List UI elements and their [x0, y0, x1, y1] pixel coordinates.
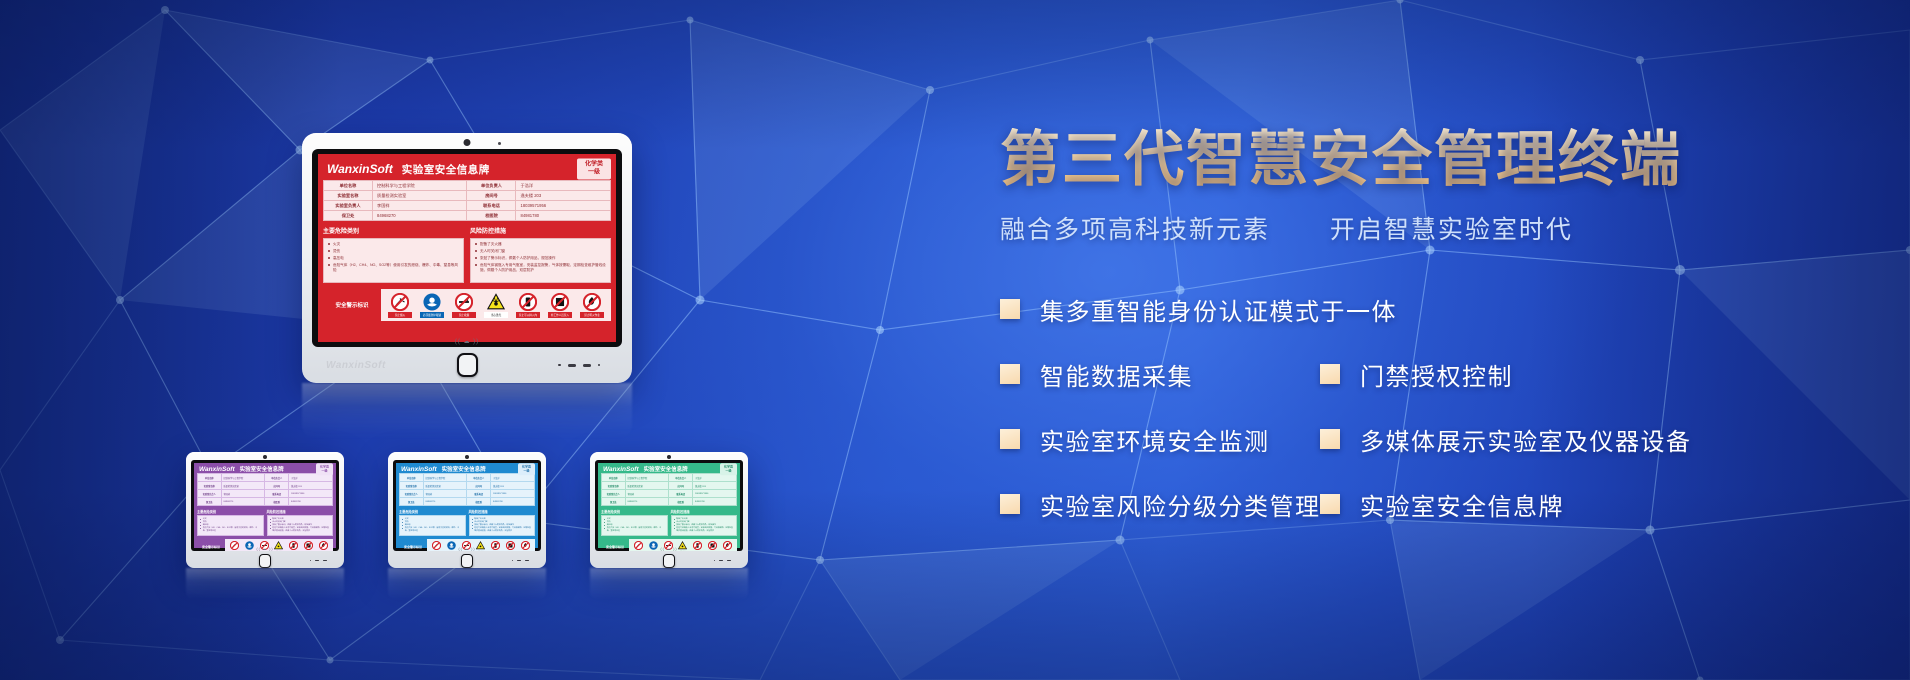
tablet-shell: WanxinSoft 实验室安全信息牌 化学类 一级 单位名称控制科学与工程学院…	[186, 452, 344, 568]
feature-label: 门禁授权控制	[1360, 357, 1513, 392]
list-item: 高压电	[328, 256, 459, 261]
badge-line-2: 一级	[588, 169, 600, 175]
sensor-icon	[498, 142, 501, 145]
info-board-screen: WanxinSoft 实验室安全信息牌 化学类 一级 单位名称控制科学与工程学院…	[194, 463, 336, 548]
cell-value: 84968270	[373, 211, 467, 221]
tablet-reflection	[590, 568, 748, 600]
no-fireworks-icon	[391, 293, 409, 311]
info-board-screen: WanxinSoft 实验室安全信息牌 化学类 一级 单位名称控制科学与工程学院…	[598, 463, 740, 548]
nfc-reader-icon: (( ☁ ))	[455, 338, 479, 345]
led-indicator	[323, 560, 327, 562]
bullet-icon	[604, 522, 605, 523]
cell-value: 控制科学与工程学院	[221, 474, 265, 482]
safety-sign: 禁止带火种入内	[693, 541, 703, 551]
sign-caption: 禁止明火作业	[580, 312, 604, 318]
bullet-icon	[472, 522, 473, 523]
bullet-icon	[475, 243, 477, 245]
cell-value: 84981780	[516, 211, 611, 221]
bullet-icon	[270, 528, 271, 529]
square-bullet-icon	[1320, 429, 1340, 449]
table-row: 单位名称控制科学与工程学院单位负责人于浩洋	[602, 474, 737, 482]
risk-columns: 主要危险类别 火灾 烫伤 高压电 危险气体（H2、CH4、NO、SO2等）使用引…	[197, 509, 333, 536]
tablet-reflection	[388, 568, 546, 600]
feature-item: 实验室环境安全监测	[1000, 422, 1320, 457]
bullet-icon	[270, 519, 271, 520]
cell-value: 逸夫楼 203	[516, 191, 611, 201]
list-item-label: 危险气体钢瓶入专用气瓶室，安装监控报警，气体按需取、定期检查维护管线设施，佩戴个…	[474, 527, 532, 533]
measure-column: 风险防控措施 配备了灭火器 无人时关闭门窗 张贴了警示标识，佩戴个人防护用品，规…	[671, 509, 738, 536]
safety-sign: 禁止带火种入内	[491, 541, 501, 551]
led-indicator	[512, 560, 514, 562]
bullet-icon	[674, 519, 675, 520]
risk-columns: 主要危险类别 火灾 烫伤 高压电 危险气体（H2、CH4、NO、SO2等）使用引…	[399, 509, 535, 536]
lab-info-table-body: 单位名称控制科学与工程学院单位负责人于浩洋 实验室名称质量检测实验室房间号逸夫楼…	[602, 474, 737, 506]
safety-signs-container: 禁止烟火 必须戴防护眼镜	[381, 289, 611, 321]
safety-sign: 禁止吸烟	[452, 293, 476, 318]
cell-value: 质量检测实验室	[221, 482, 265, 490]
safety-signs-label: 安全警示标识	[601, 545, 629, 549]
bullet-icon	[328, 243, 330, 245]
feature-row: 实验室环境安全监测 多媒体展示实验室及仪器设备	[1000, 422, 1880, 457]
cell-key: 单位负责人	[669, 474, 693, 482]
cell-key: 实验室名称	[400, 482, 424, 490]
cell-value: 李国祥	[221, 490, 265, 498]
led-indicator	[525, 560, 529, 562]
safety-signs-container: 禁止烟火 必须戴防护眼镜 禁止吸烟 当心激光 禁止带火种入内 非工作人员禁入 禁…	[427, 539, 535, 551]
main-tablet-device: WanxinSoft 实验室安全信息牌 化学类 一级 单位名称	[302, 133, 632, 383]
home-button[interactable]	[259, 554, 271, 568]
sign-caption: 非工作人员禁入	[548, 312, 572, 318]
badge-line-1: 化学类	[585, 162, 603, 168]
laser-warning-icon	[274, 541, 283, 550]
cell-key: 单位负责人	[467, 181, 516, 191]
home-button[interactable]	[461, 554, 473, 568]
safety-sign: 必须戴防护眼镜	[420, 293, 444, 318]
cell-key: 联系电话	[265, 490, 289, 498]
feature-item: 门禁授权控制	[1320, 357, 1513, 392]
feature-item: 集多重智能身份认证模式于一体	[1000, 292, 1397, 327]
chin-brand-logo: WanxinSoft	[326, 360, 386, 371]
no-open-flame-icon	[723, 541, 732, 550]
subtitle-right: 开启智慧实验室时代	[1330, 216, 1573, 244]
feature-label: 实验室安全信息牌	[1360, 487, 1564, 522]
camera-icon	[667, 455, 671, 459]
list-item-label: 配备了灭火器	[480, 242, 502, 247]
status-leds	[558, 364, 600, 367]
bullet-icon	[328, 250, 330, 252]
brand-logo: WanxinSoft	[603, 466, 639, 473]
board-header: WanxinSoft 实验室安全信息牌 化学类 一级	[601, 465, 737, 473]
board-body: 单位名称 控制科学与工程学院 单位负责人 于浩洋 实验室名称 质量检测实验室 房…	[323, 180, 611, 339]
feature-item: 多媒体展示实验室及仪器设备	[1320, 422, 1692, 457]
cell-value: 逸夫楼 203	[288, 482, 332, 490]
bullet-icon	[200, 522, 201, 523]
tablet-inner-bezel: WanxinSoft 实验室安全信息牌 化学类 一级 单位名称控制科学与工程学院…	[393, 460, 541, 551]
hazard-list-box: 火灾 烫伤 高压电 危险气体（H2、CH4、NO、SO2等）使用引发的燃烧、爆炸…	[601, 515, 668, 536]
brand-logo: WanxinSoft	[327, 162, 393, 176]
safety-sign: 禁止带火种入内	[289, 541, 299, 551]
cell-key: 房间号	[265, 482, 289, 490]
bullet-icon	[402, 522, 403, 523]
measure-list-box: 配备了灭火器 无人时关闭门窗 张贴了警示标识，佩戴个人防护用品，规范操作 危险气…	[469, 515, 536, 536]
board-header: WanxinSoft 实验室安全信息牌 化学类 一级	[399, 465, 535, 473]
list-item: 火灾	[328, 242, 459, 247]
tablet-reflection	[302, 383, 632, 439]
bullet-icon	[674, 522, 675, 523]
measure-list-box: 配备了灭火器 无人时关闭门窗 张贴了警示标识，佩戴个人防护用品，规范操作 危险气…	[267, 515, 334, 536]
cell-key: 实验室名称	[198, 482, 222, 490]
bullet-icon	[475, 264, 477, 266]
table-row: 实验室名称 质量检测实验室 房间号 逸夫楼 203	[324, 191, 611, 201]
led-indicator	[727, 560, 731, 562]
cell-key: 联系电话	[467, 201, 516, 211]
square-bullet-icon	[1000, 364, 1020, 384]
no-open-flame-icon	[583, 293, 601, 311]
home-button[interactable]	[663, 554, 675, 568]
brand-logo: WanxinSoft	[199, 466, 235, 473]
list-item: 张贴了警示标识，佩戴个人防护用品，规范操作	[475, 256, 606, 261]
bullet-icon	[674, 525, 675, 526]
cell-value: 18039571956	[288, 490, 332, 498]
bullet-icon	[402, 528, 403, 529]
lab-info-table: 单位名称 控制科学与工程学院 单位负责人 于浩洋 实验室名称 质量检测实验室 房…	[323, 180, 611, 221]
list-item-label: 危险气体钢瓶入专用气瓶室，安装监控报警，气体按需取、定期检查维护管线设施，佩戴个…	[480, 263, 606, 274]
square-bullet-icon	[1000, 299, 1020, 319]
risk-columns: 主要危险类别 火灾 烫伤 高压电 危险气体（H2、CH4、NO、SO2等）使用引…	[601, 509, 737, 536]
cell-value: 18039571956	[490, 490, 534, 498]
bullet-icon	[200, 528, 201, 529]
tablet-inner-bezel: WanxinSoft 实验室安全信息牌 化学类 一级 单位名称	[312, 149, 622, 347]
table-row: 保卫处84968270校医院84981780	[198, 498, 333, 506]
list-item-label: 危险气体（H2、CH4、NO、SO2等）使用引发的燃烧、爆炸、中毒、窒息等风险	[607, 527, 665, 533]
hazard-column-title: 主要危险类别	[197, 509, 264, 514]
table-row: 保卫处84968270校医院84981780	[602, 498, 737, 506]
lab-info-table-body: 单位名称控制科学与工程学院单位负责人于浩洋 实验室名称质量检测实验室房间号逸夫楼…	[400, 474, 535, 506]
no-fireworks-icon	[634, 541, 643, 550]
list-item: 配备了灭火器	[475, 242, 606, 247]
no-smoking-icon	[455, 293, 473, 311]
no-open-flame-icon	[521, 541, 530, 550]
laser-warning-icon	[487, 293, 505, 311]
cell-key: 校医院	[467, 211, 516, 221]
safety-sign: 禁止烟火	[633, 541, 643, 551]
no-mobile-phone-icon	[693, 541, 702, 550]
list-item: 危险气体（H2、CH4、NO、SO2等）使用引发的燃烧、爆炸、中毒、窒息等风险	[604, 527, 665, 533]
sign-caption: 禁止带火种入内	[516, 312, 540, 318]
led-indicator	[558, 364, 561, 367]
table-row: 实验室负责人 李国祥 联系电话 18039571956	[324, 201, 611, 211]
cell-key: 保卫处	[400, 498, 424, 506]
cell-key: 房间号	[669, 482, 693, 490]
home-button[interactable]	[457, 353, 478, 377]
square-bullet-icon	[1000, 494, 1020, 514]
hazard-list-box: 火灾 烫伤 高压电	[323, 238, 464, 283]
list-item-label: 张贴了警示标识，佩戴个人防护用品，规范操作	[480, 256, 555, 261]
feature-item: 实验室风险分级分类管理	[1000, 487, 1320, 522]
board-title: 实验室安全信息牌	[442, 465, 486, 473]
bullet-icon	[475, 250, 477, 252]
hazard-column: 主要危险类别 火灾 烫伤 高压电 危险气体（H2、CH4、NO、SO2等）使用引…	[399, 509, 466, 536]
cell-value: 质量检测实验室	[625, 482, 669, 490]
safety-sign: 禁止烟火	[229, 541, 239, 551]
measure-column-title: 风险防控措施	[671, 509, 738, 514]
no-entry-icon	[506, 541, 515, 550]
safety-sign: 禁止烟火	[431, 541, 441, 551]
cell-key: 保卫处	[324, 211, 373, 221]
list-item: 危险气体钢瓶入专用气瓶室，安装监控报警，气体按需取、定期检查维护管线设施，佩戴个…	[270, 527, 331, 533]
badge-line-2: 一级	[523, 468, 529, 472]
feature-label: 多媒体展示实验室及仪器设备	[1360, 422, 1692, 457]
safety-signs-container: 禁止烟火 必须戴防护眼镜 禁止吸烟 当心激光 禁止带火种入内 非工作人员禁入 禁…	[225, 539, 333, 551]
board-title: 实验室安全信息牌	[240, 465, 284, 473]
lab-info-table-body: 单位名称控制科学与工程学院单位负责人于浩洋 实验室名称质量检测实验室房间号逸夫楼…	[198, 474, 333, 506]
cell-value: 逸夫楼 203	[692, 482, 736, 490]
hazard-class-badge: 化学类 一级	[316, 463, 333, 475]
wear-eye-protection-icon	[649, 541, 658, 550]
cell-value: 质量检测实验室	[423, 482, 467, 490]
cell-key: 联系电话	[467, 490, 491, 498]
safety-sign: 必须戴防护眼镜	[244, 541, 254, 551]
hazard-column-title: 主要危险类别	[399, 509, 466, 514]
safety-sign: 当心激光	[484, 293, 508, 318]
safety-signs-label: 安全警示标识	[323, 301, 381, 309]
no-fireworks-icon	[432, 541, 441, 550]
bullet-icon	[200, 525, 201, 526]
hazard-class-badge: 化学类 一级	[577, 159, 611, 180]
table-row: 实验室负责人李国祥联系电话18039571956	[602, 490, 737, 498]
page-subtitle: 融合多项高科技新元素 开启智慧实验室时代	[1000, 210, 1880, 246]
tablet-inner-bezel: WanxinSoft 实验室安全信息牌 化学类 一级 单位名称控制科学与工程学院…	[595, 460, 743, 551]
cell-value: 李国祥	[625, 490, 669, 498]
list-item: 危险气体（H2、CH4、NO、SO2等）使用引发的燃烧、爆炸、中毒、窒息等风险	[200, 527, 261, 533]
camera-icon	[464, 139, 471, 146]
cell-key: 实验室名称	[602, 482, 626, 490]
brand-logo: WanxinSoft	[401, 466, 437, 473]
table-row: 保卫处84968270校医院84981780	[400, 498, 535, 506]
feature-item: 实验室安全信息牌	[1320, 487, 1564, 522]
bullet-icon	[472, 525, 473, 526]
table-row: 保卫处 84968270 校医院 84981780	[324, 211, 611, 221]
safety-sign: 必须戴防护眼镜	[648, 541, 658, 551]
bullet-icon	[475, 257, 477, 259]
cell-value: 控制科学与工程学院	[625, 474, 669, 482]
board-title: 实验室安全信息牌	[402, 162, 490, 177]
cell-key: 单位名称	[198, 474, 222, 482]
list-item-label: 危险气体（H2、CH4、NO、SO2等）使用引发的燃烧、爆炸、中毒、窒息等风险	[333, 263, 459, 274]
cell-value: 84968270	[221, 498, 265, 506]
cell-value: 于浩洋	[516, 181, 611, 191]
cell-key: 单位负责人	[467, 474, 491, 482]
hazard-class-badge: 化学类 一级	[720, 463, 737, 475]
bullet-icon	[472, 519, 473, 520]
list-item: 危险气体钢瓶入专用气瓶室，安装监控报警，气体按需取、定期检查维护管线设施，佩戴个…	[475, 263, 606, 274]
laser-warning-icon	[476, 541, 485, 550]
no-fireworks-icon	[230, 541, 239, 550]
cell-key: 实验室负责人	[198, 490, 222, 498]
feature-label: 实验室环境安全监测	[1040, 422, 1270, 457]
safety-signs-label: 安全警示标识	[197, 545, 225, 549]
feature-row: 智能数据采集 门禁授权控制	[1000, 357, 1880, 392]
measure-column-title: 风险防控措施	[470, 226, 611, 235]
bullet-icon	[200, 519, 201, 520]
safety-sign: 当心激光	[274, 541, 284, 551]
info-board-screen: WanxinSoft 实验室安全信息牌 化学类 一级 单位名称	[318, 154, 616, 342]
cell-value: 李国祥	[423, 490, 467, 498]
cell-key: 房间号	[467, 191, 516, 201]
bullet-icon	[472, 528, 473, 529]
cell-value: 18039571956	[692, 490, 736, 498]
list-item: 烫伤	[328, 249, 459, 254]
led-indicator	[315, 560, 319, 562]
wear-eye-protection-icon	[423, 293, 441, 311]
camera-icon	[465, 455, 469, 459]
bullet-icon	[270, 522, 271, 523]
safety-sign: 禁止带火种入内	[516, 293, 540, 318]
cell-key: 保卫处	[602, 498, 626, 506]
sign-caption: 禁止吸烟	[452, 312, 476, 318]
measure-column: 风险防控措施 配备了灭火器 无人时关闭门窗	[470, 226, 611, 283]
no-open-flame-icon	[319, 541, 328, 550]
thumbnail-tablet-blue[interactable]: WanxinSoft 实验室安全信息牌 化学类 一级 单位名称控制科学与工程学院…	[388, 452, 546, 568]
cell-key: 保卫处	[198, 498, 222, 506]
cell-value: 18039571956	[516, 201, 611, 211]
cell-key: 单位名称	[602, 474, 626, 482]
no-entry-icon	[551, 293, 569, 311]
safety-sign: 禁止明火作业	[580, 293, 604, 318]
cell-value: 84968270	[423, 498, 467, 506]
no-mobile-phone-icon	[491, 541, 500, 550]
lab-info-table: 单位名称控制科学与工程学院单位负责人于浩洋 实验室名称质量检测实验室房间号逸夫楼…	[399, 473, 535, 506]
hazard-column: 主要危险类别 火灾 烫伤	[323, 226, 464, 283]
thumbnail-tablet-green[interactable]: WanxinSoft 实验室安全信息牌 化学类 一级 单位名称控制科学与工程学院…	[590, 452, 748, 568]
lab-info-table: 单位名称控制科学与工程学院单位负责人于浩洋 实验室名称质量检测实验室房间号逸夫楼…	[197, 473, 333, 506]
safety-signs-row: 安全警示标识 禁止烟火	[323, 289, 611, 321]
sign-caption: 必须戴防护眼镜	[420, 312, 444, 318]
hazard-column: 主要危险类别 火灾 烫伤 高压电 危险气体（H2、CH4、NO、SO2等）使用引…	[197, 509, 264, 536]
tablet-reflection	[186, 568, 344, 600]
feature-label: 实验室风险分级分类管理	[1040, 487, 1321, 522]
table-row: 实验室负责人李国祥联系电话18039571956	[400, 490, 535, 498]
subtitle-left: 融合多项高科技新元素	[1000, 216, 1270, 244]
safety-sign: 当心激光	[476, 541, 486, 551]
safety-sign: 禁止明火作业	[318, 541, 328, 551]
square-bullet-icon	[1320, 364, 1340, 384]
hazard-column: 主要危险类别 火灾 烫伤 高压电 危险气体（H2、CH4、NO、SO2等）使用引…	[601, 509, 668, 536]
cell-value: 84981780	[692, 498, 736, 506]
list-item-label: 无人时关闭门窗	[480, 249, 505, 254]
list-item-label: 危险气体（H2、CH4、NO、SO2等）使用引发的燃烧、爆炸、中毒、窒息等风险	[405, 527, 463, 533]
feature-label: 集多重智能身份认证模式于一体	[1040, 292, 1397, 327]
led-indicator	[310, 560, 312, 562]
bullet-icon	[402, 525, 403, 526]
list-item-label: 危险气体钢瓶入专用气瓶室，安装监控报警，气体按需取、定期检查维护管线设施，佩戴个…	[676, 527, 734, 533]
bullet-icon	[604, 528, 605, 529]
cell-key: 实验室名称	[324, 191, 373, 201]
measure-list-box: 配备了灭火器 无人时关闭门窗 张贴了警示标识，佩戴个人防护用品，规范操作 危险气…	[671, 515, 738, 536]
lab-info-table-body: 单位名称 控制科学与工程学院 单位负责人 于浩洋 实验室名称 质量检测实验室 房…	[324, 181, 611, 221]
board-header: WanxinSoft 实验室安全信息牌 化学类 一级	[323, 158, 611, 180]
safety-sign: 非工作人员禁入	[506, 541, 516, 551]
list-item: 无人时关闭门窗	[475, 249, 606, 254]
bullet-icon	[604, 525, 605, 526]
no-entry-icon	[304, 541, 313, 550]
cell-key: 校医院	[669, 498, 693, 506]
status-leds	[310, 560, 328, 562]
led-indicator	[568, 364, 576, 367]
cell-key: 单位名称	[400, 474, 424, 482]
measure-column-title: 风险防控措施	[469, 509, 536, 514]
cell-key: 实验室负责人	[602, 490, 626, 498]
led-indicator	[719, 560, 723, 562]
cell-value: 84981780	[490, 498, 534, 506]
cell-key: 单位负责人	[265, 474, 289, 482]
list-item-label: 危险气体（H2、CH4、NO、SO2等）使用引发的燃烧、爆炸、中毒、窒息等风险	[203, 527, 261, 533]
badge-line-2: 一级	[725, 468, 731, 472]
measure-list-box: 配备了灭火器 无人时关闭门窗 张贴了警示标识，佩戴个人防护用品，规范操作	[470, 238, 611, 283]
list-item: 危险气体（H2、CH4、NO、SO2等）使用引发的燃烧、爆炸、中毒、窒息等风险	[402, 527, 463, 533]
safety-sign: 禁止烟火	[388, 293, 412, 318]
tablet-chin: WanxinSoft	[312, 347, 622, 383]
safety-sign: 非工作人员禁入	[708, 541, 718, 551]
safety-sign: 禁止明火作业	[722, 541, 732, 551]
thumbnail-tablet-purple[interactable]: WanxinSoft 实验室安全信息牌 化学类 一级 单位名称控制科学与工程学院…	[186, 452, 344, 568]
status-leds	[714, 560, 732, 562]
cell-key: 校医院	[265, 498, 289, 506]
measure-column-title: 风险防控措施	[267, 509, 334, 514]
hazard-column-title: 主要危险类别	[601, 509, 668, 514]
led-indicator	[714, 560, 716, 562]
list-item: 危险气体钢瓶入专用气瓶室，安装监控报警，气体按需取、定期检查维护管线设施，佩戴个…	[674, 527, 735, 533]
safety-signs-label: 安全警示标识	[399, 545, 427, 549]
cell-value: 控制科学与工程学院	[373, 181, 467, 191]
list-item-label: 烫伤	[333, 249, 340, 254]
cell-key: 房间号	[467, 482, 491, 490]
cell-value: 质量检测实验室	[373, 191, 467, 201]
hazard-column-title: 主要危险类别	[323, 226, 464, 235]
led-indicator	[583, 364, 591, 367]
feature-row: 实验室风险分级分类管理 实验室安全信息牌	[1000, 487, 1880, 522]
measure-column: 风险防控措施 配备了灭火器 无人时关闭门窗 张贴了警示标识，佩戴个人防护用品，规…	[469, 509, 536, 536]
wear-eye-protection-icon	[245, 541, 254, 550]
lab-info-table: 单位名称控制科学与工程学院单位负责人于浩洋 实验室名称质量检测实验室房间号逸夫楼…	[601, 473, 737, 506]
safety-sign: 非工作人员禁入	[304, 541, 314, 551]
tablet-shell: WanxinSoft 实验室安全信息牌 化学类 一级 单位名称控制科学与工程学院…	[590, 452, 748, 568]
hazard-list-box: 火灾 烫伤 高压电 危险气体（H2、CH4、NO、SO2等）使用引发的燃烧、爆炸…	[399, 515, 466, 536]
list-item-label: 火灾	[333, 242, 340, 247]
bullet-icon	[402, 519, 403, 520]
square-bullet-icon	[1000, 429, 1020, 449]
hero-copy: 第三代智慧安全管理终端 融合多项高科技新元素 开启智慧实验室时代 集多重智能身份…	[1000, 128, 1880, 552]
list-item: 危险气体（H2、CH4、NO、SO2等）使用引发的燃烧、爆炸、中毒、窒息等风险	[328, 263, 459, 274]
tablet-shell: WanxinSoft 实验室安全信息牌 化学类 一级 单位名称控制科学与工程学院…	[388, 452, 546, 568]
cell-value: 逸夫楼 203	[490, 482, 534, 490]
feature-list: 集多重智能身份认证模式于一体 智能数据采集 门禁授权控制 实验室环境安全监测	[1000, 292, 1880, 522]
table-row: 单位名称控制科学与工程学院单位负责人于浩洋	[198, 474, 333, 482]
table-row: 单位名称 控制科学与工程学院 单位负责人 于浩洋	[324, 181, 611, 191]
bullet-icon	[328, 264, 330, 266]
wear-eye-protection-icon	[447, 541, 456, 550]
safety-sign: 非工作人员禁入	[548, 293, 572, 318]
feature-item: 智能数据采集	[1000, 357, 1320, 392]
no-entry-icon	[708, 541, 717, 550]
bullet-icon	[674, 528, 675, 529]
safety-sign: 禁止明火作业	[520, 541, 530, 551]
badge-line-2: 一级	[321, 468, 327, 472]
table-row: 实验室名称质量检测实验室房间号逸夫楼 203	[400, 482, 535, 490]
board-header: WanxinSoft 实验室安全信息牌 化学类 一级	[197, 465, 333, 473]
risk-columns: 主要危险类别 火灾 烫伤	[323, 226, 611, 283]
cell-value: 84968270	[625, 498, 669, 506]
